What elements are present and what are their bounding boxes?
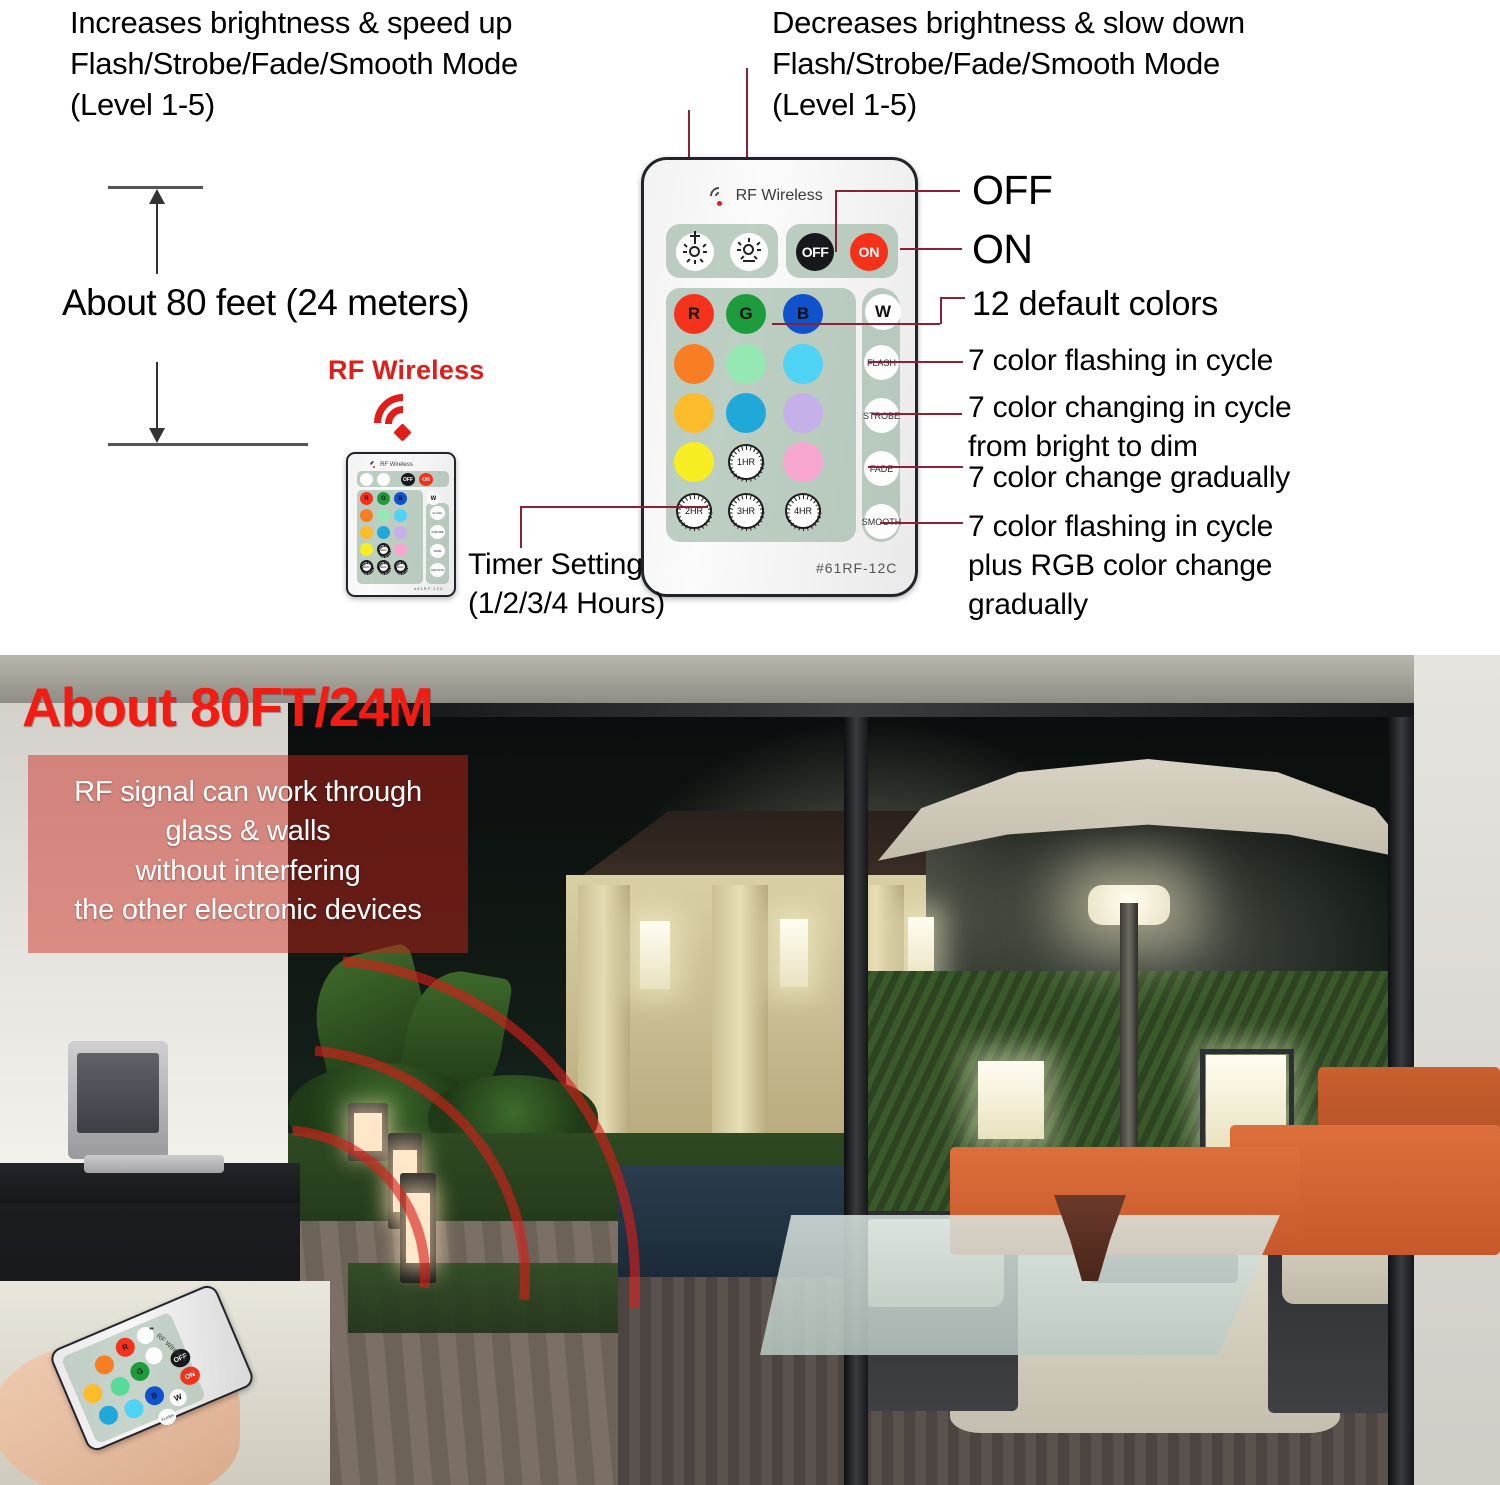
door-header-rail xyxy=(288,703,1414,717)
sun-plus-icon xyxy=(683,240,707,264)
label-off: OFF xyxy=(972,167,1052,214)
small-b-button[interactable]: B xyxy=(394,492,407,505)
red-button-label: R xyxy=(688,304,700,324)
leader-fade xyxy=(868,466,963,468)
distance-arrow-down xyxy=(149,428,165,443)
door-mullion-center xyxy=(844,703,868,1485)
small-fade-button[interactable]: FADE xyxy=(430,544,445,558)
timer-1hr-button[interactable]: 1HR xyxy=(728,444,764,480)
leader-colors-h1 xyxy=(772,323,940,325)
small-w-button[interactable]: W xyxy=(427,492,440,505)
distance-headline: About 80FT/24M xyxy=(22,675,433,739)
color-button-orange[interactable] xyxy=(674,344,714,384)
rf-description-overlay: RF signal can work through glass & walls… xyxy=(28,755,468,953)
blue-button-label: B xyxy=(797,304,809,324)
timer-2hr-button[interactable]: 2HR xyxy=(676,493,712,529)
distance-line-upper xyxy=(156,196,158,274)
small-color-button[interactable] xyxy=(394,509,407,522)
main-remote-header-label: RF Wireless xyxy=(736,187,823,205)
distance-bottom-tick xyxy=(108,443,308,446)
small-color-button[interactable] xyxy=(377,509,390,522)
remote-diagram-panel: Increases brightness & speed up Flash/St… xyxy=(0,0,1500,655)
distance-label: About 80 feet (24 meters) xyxy=(62,282,469,324)
small-g-button[interactable]: G xyxy=(377,492,390,505)
small-timer-1hr-button[interactable]: 1HR xyxy=(377,543,390,556)
small-on-button[interactable]: ON xyxy=(419,473,433,486)
blue-button[interactable]: B xyxy=(783,294,823,334)
callout-brightness-down: Decreases brightness & slow down Flash/S… xyxy=(772,2,1472,126)
small-color-button[interactable] xyxy=(360,526,373,539)
sun-minus-icon xyxy=(737,240,761,264)
timer-3hr-button[interactable]: 3HR xyxy=(728,493,764,529)
label-on: ON xyxy=(972,226,1033,273)
lifestyle-photo: OFF ON R G B W FLASH RF Wireless About 8… xyxy=(0,655,1500,1485)
small-remote-header: RF Wireless xyxy=(370,461,413,468)
small-color-button[interactable] xyxy=(394,543,407,556)
leader-timer-h xyxy=(520,506,708,508)
strobe-button[interactable]: STROBE xyxy=(864,398,899,433)
callout-brightness-up: Increases brightness & speed up Flash/St… xyxy=(70,2,760,126)
strobe-button-label: STROBE xyxy=(863,411,900,421)
fade-button-label: FADE xyxy=(870,464,894,474)
wifi-icon xyxy=(710,187,730,205)
brightness-up-button[interactable] xyxy=(676,233,714,271)
off-button-label: OFF xyxy=(802,244,829,260)
small-timer-3hr-button[interactable]: 3HR xyxy=(377,560,390,573)
label-smooth: 7 color flashing in cycle plus RGB color… xyxy=(968,507,1273,624)
small-color-button[interactable] xyxy=(377,526,390,539)
pavilion-window-left xyxy=(640,921,670,989)
label-default-colors: 12 default colors xyxy=(972,282,1218,326)
rf-signal-icon xyxy=(372,390,450,448)
timer-ticks xyxy=(396,562,405,571)
wifi-icon xyxy=(370,461,378,468)
small-r-button[interactable]: R xyxy=(360,492,373,505)
leader-colors-h2 xyxy=(940,297,965,299)
main-remote-header: RF Wireless xyxy=(710,187,823,205)
leader-flash xyxy=(868,361,963,363)
on-button[interactable]: ON xyxy=(850,233,888,271)
leader-smooth xyxy=(880,522,963,524)
pavilion-window-mid xyxy=(780,919,808,987)
remote-main[interactable]: RF Wireless xyxy=(641,157,918,597)
small-color-button[interactable] xyxy=(360,509,373,522)
small-remote-model-number: #61RF-12C xyxy=(414,586,444,591)
color-button-pink[interactable] xyxy=(783,442,823,482)
off-button[interactable]: OFF xyxy=(796,233,834,271)
leader-timer-v xyxy=(520,506,522,548)
red-button[interactable]: R xyxy=(674,294,714,334)
pavilion-column-mid xyxy=(712,885,768,1147)
label-timer-setting: Timer Setting (1/2/3/4 Hours) xyxy=(468,545,665,623)
green-button[interactable]: G xyxy=(726,294,766,334)
small-timer-2hr-button[interactable]: 2HR xyxy=(360,560,373,573)
small-timer-4hr-button[interactable]: 4HR xyxy=(394,560,407,573)
timer-4hr-button[interactable]: 4HR xyxy=(785,493,821,529)
brightness-down-button[interactable] xyxy=(730,233,768,271)
rf-description-text: RF signal can work through glass & walls… xyxy=(50,773,446,931)
color-button-lavender[interactable] xyxy=(783,393,823,433)
leader-colors-v xyxy=(940,297,942,324)
white-button-label: W xyxy=(875,302,891,322)
timer-ticks xyxy=(379,545,388,554)
remote-model-number: #61RF-12C xyxy=(816,560,897,576)
leader-off-v xyxy=(835,190,837,252)
small-brightness-down-button[interactable] xyxy=(377,473,390,486)
timer-ticks xyxy=(678,495,710,527)
garden-window-left xyxy=(978,1061,1044,1139)
product-infographic: Increases brightness & speed up Flash/St… xyxy=(0,0,1500,1485)
label-flash: 7 color flashing in cycle xyxy=(968,341,1273,380)
color-button-cyanblue[interactable] xyxy=(726,393,766,433)
timer-ticks xyxy=(730,495,762,527)
coffee-table xyxy=(760,1215,1280,1355)
timer-ticks xyxy=(379,562,388,571)
color-button-amber[interactable] xyxy=(674,393,714,433)
leader-off xyxy=(835,190,960,192)
fade-button[interactable]: FADE xyxy=(864,451,899,486)
leader-strobe xyxy=(872,413,962,415)
color-button-mint[interactable] xyxy=(726,344,766,384)
green-button-label: G xyxy=(739,304,752,324)
small-color-button[interactable] xyxy=(360,543,373,556)
rf-wireless-label: RF Wireless xyxy=(328,355,485,386)
timer-ticks xyxy=(730,446,762,478)
color-button-skyblue[interactable] xyxy=(783,344,823,384)
small-brightness-up-button[interactable] xyxy=(360,473,373,486)
small-remote-header-label: RF Wireless xyxy=(380,462,413,468)
label-fade: 7 color change gradually xyxy=(968,458,1290,497)
leader-on xyxy=(900,248,962,250)
small-off-button[interactable]: OFF xyxy=(401,473,415,486)
timer-ticks xyxy=(787,495,819,527)
small-color-button[interactable] xyxy=(394,526,407,539)
color-button-yellow[interactable] xyxy=(674,442,714,482)
small-flash-button[interactable]: FLASH xyxy=(430,506,445,520)
small-strobe-button[interactable]: STROBE xyxy=(430,525,445,539)
on-button-label: ON xyxy=(859,244,880,260)
small-smooth-button[interactable]: SMOOTH xyxy=(430,563,445,577)
timer-ticks xyxy=(362,562,371,571)
remote-small[interactable]: RF Wireless OFF ON R G B W 1HR 2HR 3HR xyxy=(346,452,456,597)
label-strobe: 7 color changing in cycle from bright to… xyxy=(968,388,1292,466)
